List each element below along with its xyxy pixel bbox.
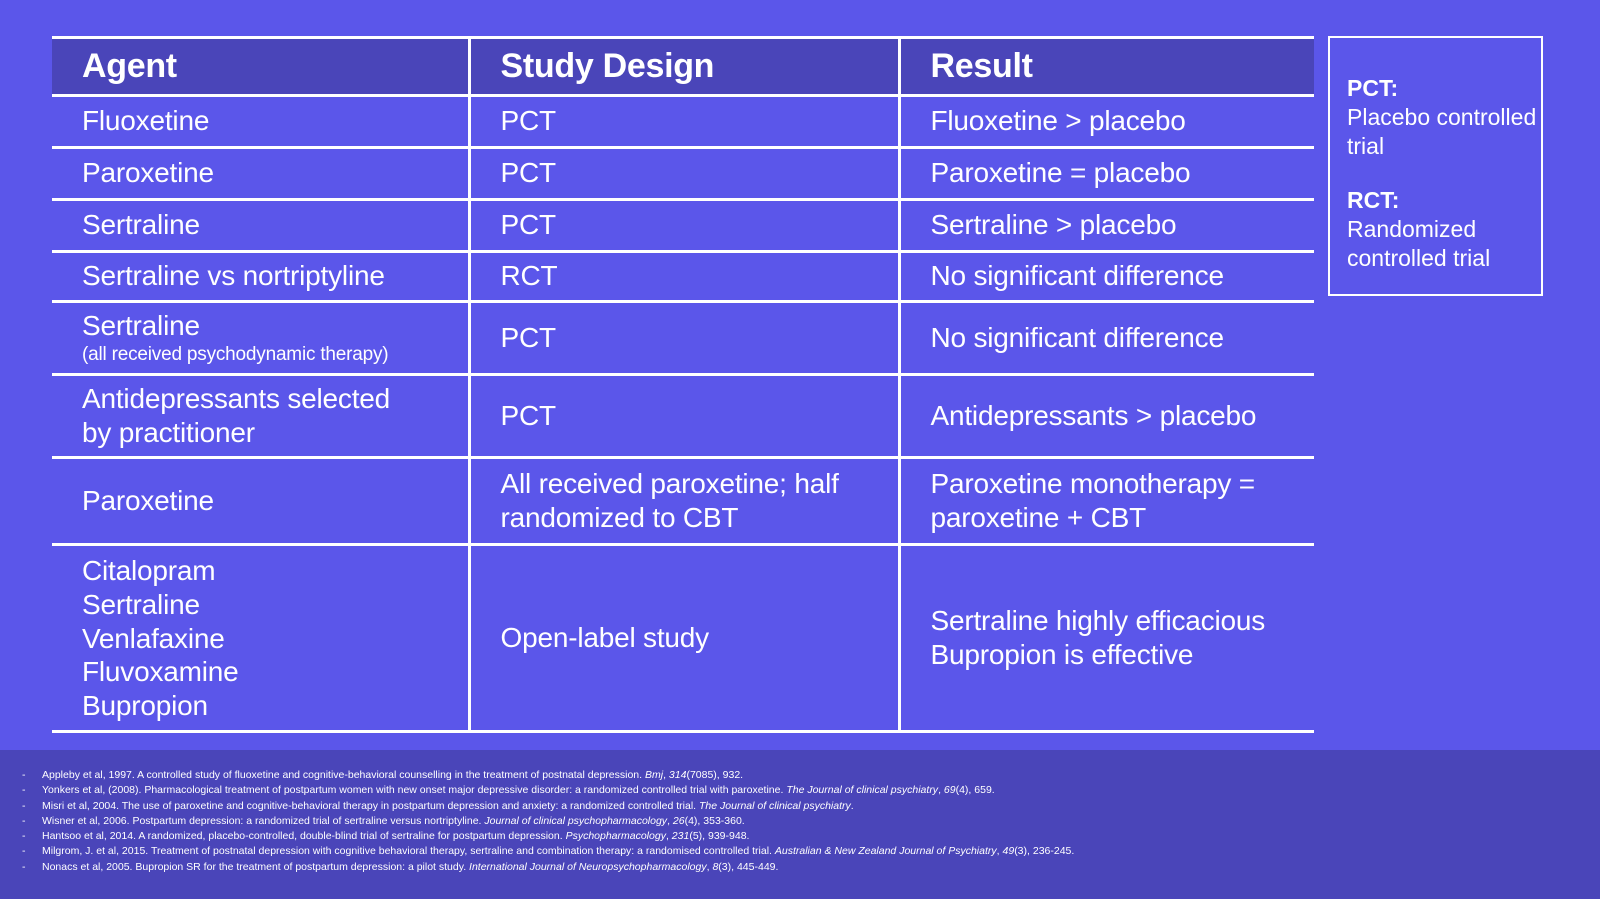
cell-result-line: Paroxetine monotherapy = bbox=[931, 467, 1311, 501]
column-header-result: Result bbox=[899, 38, 1314, 96]
table-row: Paroxetine PCT Paroxetine = placebo bbox=[52, 148, 1314, 200]
legend-term-rct: RCT: bbox=[1347, 186, 1541, 215]
abbreviation-legend: PCT: Placebo controlled trial RCT: Rando… bbox=[1328, 36, 1543, 296]
cell-agent-line: Sertraline bbox=[82, 588, 464, 622]
cell-result: Fluoxetine > placebo bbox=[899, 96, 1314, 148]
cell-study-design-line: All received paroxetine; half bbox=[501, 467, 894, 501]
reference-item: Wisner et al, 2006. Postpartum depressio… bbox=[16, 814, 1196, 829]
evidence-table: Agent Study Design Result Fluoxetine PCT… bbox=[52, 36, 1314, 733]
footer-bar: Appleby et al, 1997. A controlled study … bbox=[0, 750, 1600, 899]
cell-result: Antidepressants > placebo bbox=[899, 375, 1314, 458]
table-body: Fluoxetine PCT Fluoxetine > placebo Paro… bbox=[52, 96, 1314, 732]
column-header-study-design: Study Design bbox=[469, 38, 899, 96]
reference-item: Misri et al, 2004. The use of paroxetine… bbox=[16, 799, 1196, 814]
cell-agent: Citalopram Sertraline Venlafaxine Fluvox… bbox=[52, 545, 469, 732]
cell-result: No significant difference bbox=[899, 302, 1314, 375]
cell-study-design: PCT bbox=[469, 200, 899, 252]
cell-study-design: Open-label study bbox=[469, 545, 899, 732]
reference-item: Yonkers et al, (2008). Pharmacological t… bbox=[16, 783, 1196, 798]
table-row: Antidepressants selected by practitioner… bbox=[52, 375, 1314, 458]
legend-definition-pct: Placebo controlled trial bbox=[1347, 103, 1541, 161]
cell-result-line: Sertraline highly efficacious bbox=[931, 604, 1311, 638]
table-row: Paroxetine All received paroxetine; half… bbox=[52, 458, 1314, 545]
cell-agent: Sertraline vs nortriptyline bbox=[52, 252, 469, 302]
cell-result: Paroxetine monotherapy = paroxetine + CB… bbox=[899, 458, 1314, 545]
cell-study-design: All received paroxetine; half randomized… bbox=[469, 458, 899, 545]
reference-item: Nonacs et al, 2005. Bupropion SR for the… bbox=[16, 860, 1196, 875]
cell-agent: Sertraline bbox=[52, 200, 469, 252]
cell-result: No significant difference bbox=[899, 252, 1314, 302]
cell-agent-line: Venlafaxine bbox=[82, 622, 464, 656]
references-list: Appleby et al, 1997. A controlled study … bbox=[16, 768, 1196, 875]
cell-agent: Paroxetine bbox=[52, 148, 469, 200]
cell-study-design-line: randomized to CBT bbox=[501, 501, 894, 535]
cell-agent-line: Citalopram bbox=[82, 554, 464, 588]
cell-agent-line: Antidepressants selected bbox=[82, 382, 464, 416]
legend-definition-rct: Randomized controlled trial bbox=[1347, 215, 1541, 273]
cell-study-design: PCT bbox=[469, 375, 899, 458]
table-row: Sertraline vs nortriptyline RCT No signi… bbox=[52, 252, 1314, 302]
table-header-row: Agent Study Design Result bbox=[52, 38, 1314, 96]
cell-agent: Fluoxetine bbox=[52, 96, 469, 148]
cell-agent-line: Fluvoxamine bbox=[82, 655, 464, 689]
cell-result: Paroxetine = placebo bbox=[899, 148, 1314, 200]
table-row: Citalopram Sertraline Venlafaxine Fluvox… bbox=[52, 545, 1314, 732]
cell-agent: Paroxetine bbox=[52, 458, 469, 545]
table-header: Agent Study Design Result bbox=[52, 38, 1314, 96]
reference-item: Hantsoo et al, 2014. A randomized, place… bbox=[16, 829, 1196, 844]
cell-result: Sertraline > placebo bbox=[899, 200, 1314, 252]
cell-agent: Antidepressants selected by practitioner bbox=[52, 375, 469, 458]
cell-agent: Sertraline (all received psychodynamic t… bbox=[52, 302, 469, 375]
cell-agent-main: Sertraline bbox=[82, 310, 200, 341]
cell-agent-subtext: (all received psychodynamic therapy) bbox=[82, 344, 464, 367]
cell-result-line: paroxetine + CBT bbox=[931, 501, 1311, 535]
cell-study-design: PCT bbox=[469, 148, 899, 200]
reference-item: Milgrom, J. et al, 2015. Treatment of po… bbox=[16, 844, 1196, 859]
column-header-agent: Agent bbox=[52, 38, 469, 96]
cell-study-design: PCT bbox=[469, 96, 899, 148]
slide-body: Agent Study Design Result Fluoxetine PCT… bbox=[0, 0, 1600, 750]
legend-term-pct: PCT: bbox=[1347, 74, 1541, 103]
cell-agent-line: Bupropion bbox=[82, 689, 464, 723]
cell-result: Sertraline highly efficacious Bupropion … bbox=[899, 545, 1314, 732]
table-row: Sertraline (all received psychodynamic t… bbox=[52, 302, 1314, 375]
cell-study-design: PCT bbox=[469, 302, 899, 375]
table-row: Sertraline PCT Sertraline > placebo bbox=[52, 200, 1314, 252]
reference-item: Appleby et al, 1997. A controlled study … bbox=[16, 768, 1196, 783]
cell-agent-line: by practitioner bbox=[82, 416, 464, 450]
table-row: Fluoxetine PCT Fluoxetine > placebo bbox=[52, 96, 1314, 148]
cell-study-design: RCT bbox=[469, 252, 899, 302]
cell-result-line: Bupropion is effective bbox=[931, 638, 1311, 672]
